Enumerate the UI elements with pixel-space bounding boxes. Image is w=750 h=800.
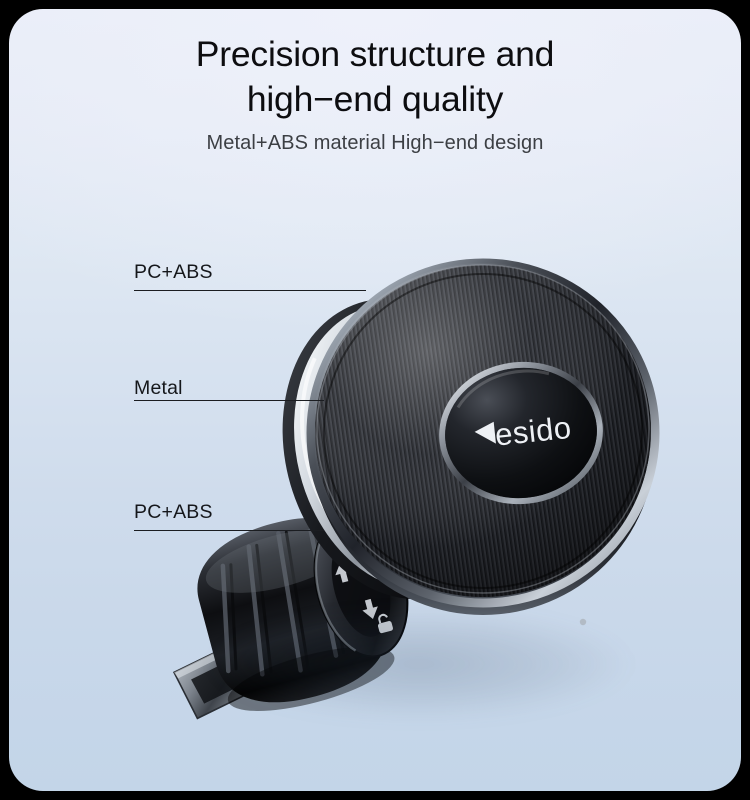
callout-leader-line-3 [134,530,324,531]
product-illustration: esido [9,9,741,791]
poster-root: Precision structure and high−end quality… [0,0,750,800]
vent-hook [171,642,258,721]
callout-label-pc-abs-top: PC+ABS [134,261,213,284]
unlock-icon [375,613,393,634]
page-subtitle: Metal+ABS material High−end design [9,132,741,155]
poster-panel: Precision structure and high−end quality… [9,9,741,791]
callout-leader-line-2 [134,400,324,401]
page-title: Precision structure and high−end quality [9,32,741,122]
metal-ring-bracket [252,273,551,624]
adjustment-knob [185,501,403,724]
svg-text:esido: esido [493,410,573,453]
callout-label-metal: Metal [134,377,183,400]
magnetic-disc: esido [311,259,655,625]
brand-logo: esido [473,410,573,455]
arrow-up-icon [333,561,354,584]
product-svg: esido [9,9,741,791]
brand-logo-plate: esido [435,357,606,509]
lock-icon [327,532,345,552]
product-shadow [209,609,629,719]
callout-label-pc-abs-bottom: PC+ABS [134,501,213,524]
arrow-down-icon [360,598,381,621]
callout-leader-line-1 [134,290,366,291]
